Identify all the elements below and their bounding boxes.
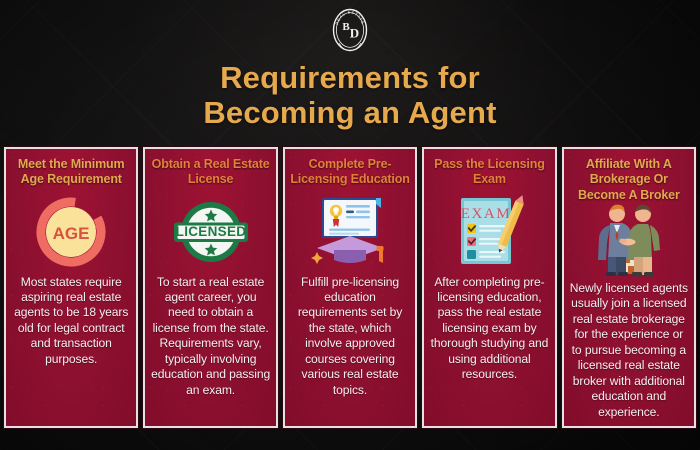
requirement-card-exam[interactable]: Pass the Licensing Exam EXAM	[422, 147, 556, 428]
requirement-card-age[interactable]: Meet the Minimum Age Requirement AGE Mos…	[4, 147, 138, 428]
card-title: Pass the Licensing Exam	[429, 157, 549, 188]
card-body: Most states require aspiring real estate…	[11, 275, 131, 368]
card-body: After completing pre-licensing education…	[429, 275, 549, 383]
page-title-line-1: Requirements for	[220, 60, 480, 95]
requirement-card-license[interactable]: Obtain a Real Estate License LICENSED To…	[143, 147, 277, 428]
svg-text:LICENSED: LICENSED	[175, 224, 246, 239]
header: REAL ESTATE B D Requirements for Becomin…	[0, 0, 700, 146]
svg-text:REAL ESTATE: REAL ESTATE	[335, 11, 365, 26]
card-title: Meet the Minimum Age Requirement	[11, 157, 131, 188]
certificate-graduation-cap-icon	[309, 194, 391, 270]
requirement-card-brokerage[interactable]: Affiliate With A Brokerage Or Become A B…	[562, 147, 696, 428]
requirement-cards-row: Meet the Minimum Age Requirement AGE Mos…	[4, 147, 696, 428]
requirement-card-education[interactable]: Complete Pre-Licensing Education	[283, 147, 417, 428]
card-title: Affiliate With A Brokerage Or Become A B…	[569, 157, 689, 194]
real-estate-circular-monogram-logo-icon: REAL ESTATE B D	[327, 5, 373, 55]
age-circular-arrow-badge-icon: AGE	[29, 194, 113, 270]
exam-paper-pencil-icon: EXAM	[447, 194, 531, 270]
licensed-seal-stamp-icon: LICENSED	[169, 194, 253, 270]
page-title: Requirements for Becoming an Agent	[163, 61, 536, 130]
handshake-agents-house-icon	[586, 200, 672, 276]
card-title: Complete Pre-Licensing Education	[290, 157, 410, 188]
card-body: Fulfill pre-licensing education requirem…	[290, 275, 410, 399]
svg-text:D: D	[350, 26, 359, 41]
card-body: To start a real estate agent career, you…	[150, 275, 270, 399]
card-title: Obtain a Real Estate License	[150, 157, 270, 188]
svg-text:AGE: AGE	[53, 224, 90, 243]
card-body: Newly licensed agents usually join a lic…	[569, 281, 689, 420]
svg-text:EXAM: EXAM	[461, 206, 512, 222]
page-title-line-2: Becoming an Agent	[203, 96, 496, 131]
infographic-root: REAL ESTATE B D Requirements for Becomin…	[0, 0, 700, 450]
brand-logo: REAL ESTATE B D	[327, 5, 373, 55]
